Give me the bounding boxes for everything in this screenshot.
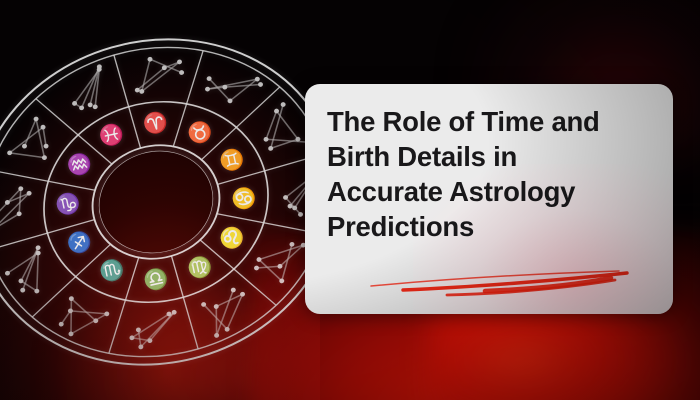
astrology-banner: ♈♉♊♋♌♍♎♏♐♑♒♓ The Role of Time and Birth … [0, 0, 700, 400]
zodiac-glyph-pisces: ♓ [97, 120, 126, 149]
zodiac-glyph-sagittarius: ♐ [65, 228, 94, 257]
page-title: The Role of Time and Birth Details in Ac… [327, 104, 659, 244]
zodiac-glyph-libra: ♎ [141, 265, 170, 294]
zodiac-glyph-virgo: ♍ [185, 253, 214, 282]
zodiac-glyph-aquarius: ♒ [65, 150, 94, 179]
background-glow-hotspot [430, 300, 690, 400]
title-card: The Role of Time and Birth Details in Ac… [305, 84, 673, 314]
zodiac-glyph-cancer: ♋ [229, 184, 258, 213]
zodiac-glyph-leo: ♌ [217, 223, 246, 252]
zodiac-glyph-gemini: ♊ [217, 145, 246, 174]
zodiac-glyph-aries: ♈ [141, 109, 170, 138]
zodiac-glyph-capricorn: ♑ [53, 189, 82, 218]
zodiac-glyph-scorpio: ♏ [97, 256, 126, 285]
red-scribble-underline [365, 260, 655, 306]
zodiac-glyph-taurus: ♉ [185, 118, 214, 147]
